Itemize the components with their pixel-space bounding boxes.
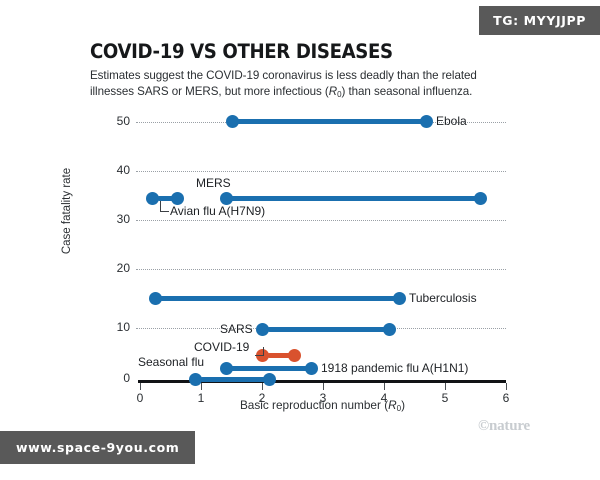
y-tick-10: 10 <box>98 320 130 334</box>
series-endpoint-1918-flu-min[interactable] <box>220 362 233 375</box>
series-label-avian-flu: Avian flu A(H7N9) <box>170 204 265 218</box>
series-label-1918-flu: 1918 pandemic flu A(H1N1) <box>321 361 468 375</box>
x-tick-mark-3 <box>323 383 324 390</box>
y-tick-20: 20 <box>98 261 130 275</box>
series-endpoint-sars-max[interactable] <box>383 323 396 336</box>
gridline-40 <box>136 171 506 172</box>
series-label-covid19: COVID-19 <box>194 340 249 354</box>
x-tick-mark-2 <box>262 383 263 390</box>
x-tick-6: 6 <box>493 391 519 405</box>
y-tick-0: 0 <box>98 371 130 385</box>
leader-line-avian-flu <box>160 201 169 212</box>
series-segment-tuberculosis[interactable] <box>154 296 400 301</box>
x-tick-3: 3 <box>310 391 336 405</box>
x-tick-mark-5 <box>445 383 446 390</box>
series-label-ebola: Ebola <box>436 114 467 128</box>
series-endpoint-seasonal-flu-max[interactable] <box>263 373 276 386</box>
x-tick-2: 2 <box>249 391 275 405</box>
series-segment-sars[interactable] <box>267 327 389 332</box>
series-endpoint-avian-flu-min[interactable] <box>146 192 159 205</box>
series-endpoint-1918-flu-max[interactable] <box>305 362 318 375</box>
series-endpoint-covid19-max[interactable] <box>288 349 301 362</box>
x-tick-0: 0 <box>127 391 153 405</box>
series-endpoint-ebola-max[interactable] <box>420 115 433 128</box>
series-segment-seasonal-flu[interactable] <box>200 377 270 382</box>
y-axis-title: Case fatality rate <box>61 131 73 291</box>
series-segment-1918-flu[interactable] <box>225 366 311 371</box>
x-tick-mark-0 <box>140 383 141 390</box>
nature-attribution: ©nature <box>478 418 530 435</box>
series-endpoint-ebola-min[interactable] <box>226 115 239 128</box>
series-endpoint-sars-min[interactable] <box>256 323 269 336</box>
x-tick-4: 4 <box>371 391 397 405</box>
x-tick-mark-6 <box>506 383 507 390</box>
y-tick-30: 30 <box>98 212 130 226</box>
series-endpoint-mers-max[interactable] <box>474 192 487 205</box>
leader-line-covid19 <box>255 347 264 356</box>
x-tick-mark-1 <box>201 383 202 390</box>
plot-area: Case fatality rate Basic reproduction nu… <box>0 0 600 480</box>
gridline-30 <box>136 220 506 221</box>
chart-page: TG: MYYJJPP www.space-9you.com COVID-19 … <box>0 0 600 480</box>
x-tick-mark-4 <box>384 383 385 390</box>
series-label-mers: MERS <box>196 176 231 190</box>
series-label-tuberculosis: Tuberculosis <box>409 291 477 305</box>
series-label-seasonal-flu: Seasonal flu <box>138 355 204 369</box>
series-endpoint-seasonal-flu-min[interactable] <box>189 373 202 386</box>
y-tick-50: 50 <box>98 114 130 128</box>
series-endpoint-tuberculosis-min[interactable] <box>149 292 162 305</box>
y-tick-40: 40 <box>98 163 130 177</box>
x-tick-5: 5 <box>432 391 458 405</box>
series-segment-ebola[interactable] <box>231 119 427 124</box>
series-label-sars: SARS <box>220 322 253 336</box>
gridline-20 <box>136 269 506 270</box>
series-segment-mers[interactable] <box>225 196 481 201</box>
x-tick-1: 1 <box>188 391 214 405</box>
series-endpoint-tuberculosis-max[interactable] <box>393 292 406 305</box>
